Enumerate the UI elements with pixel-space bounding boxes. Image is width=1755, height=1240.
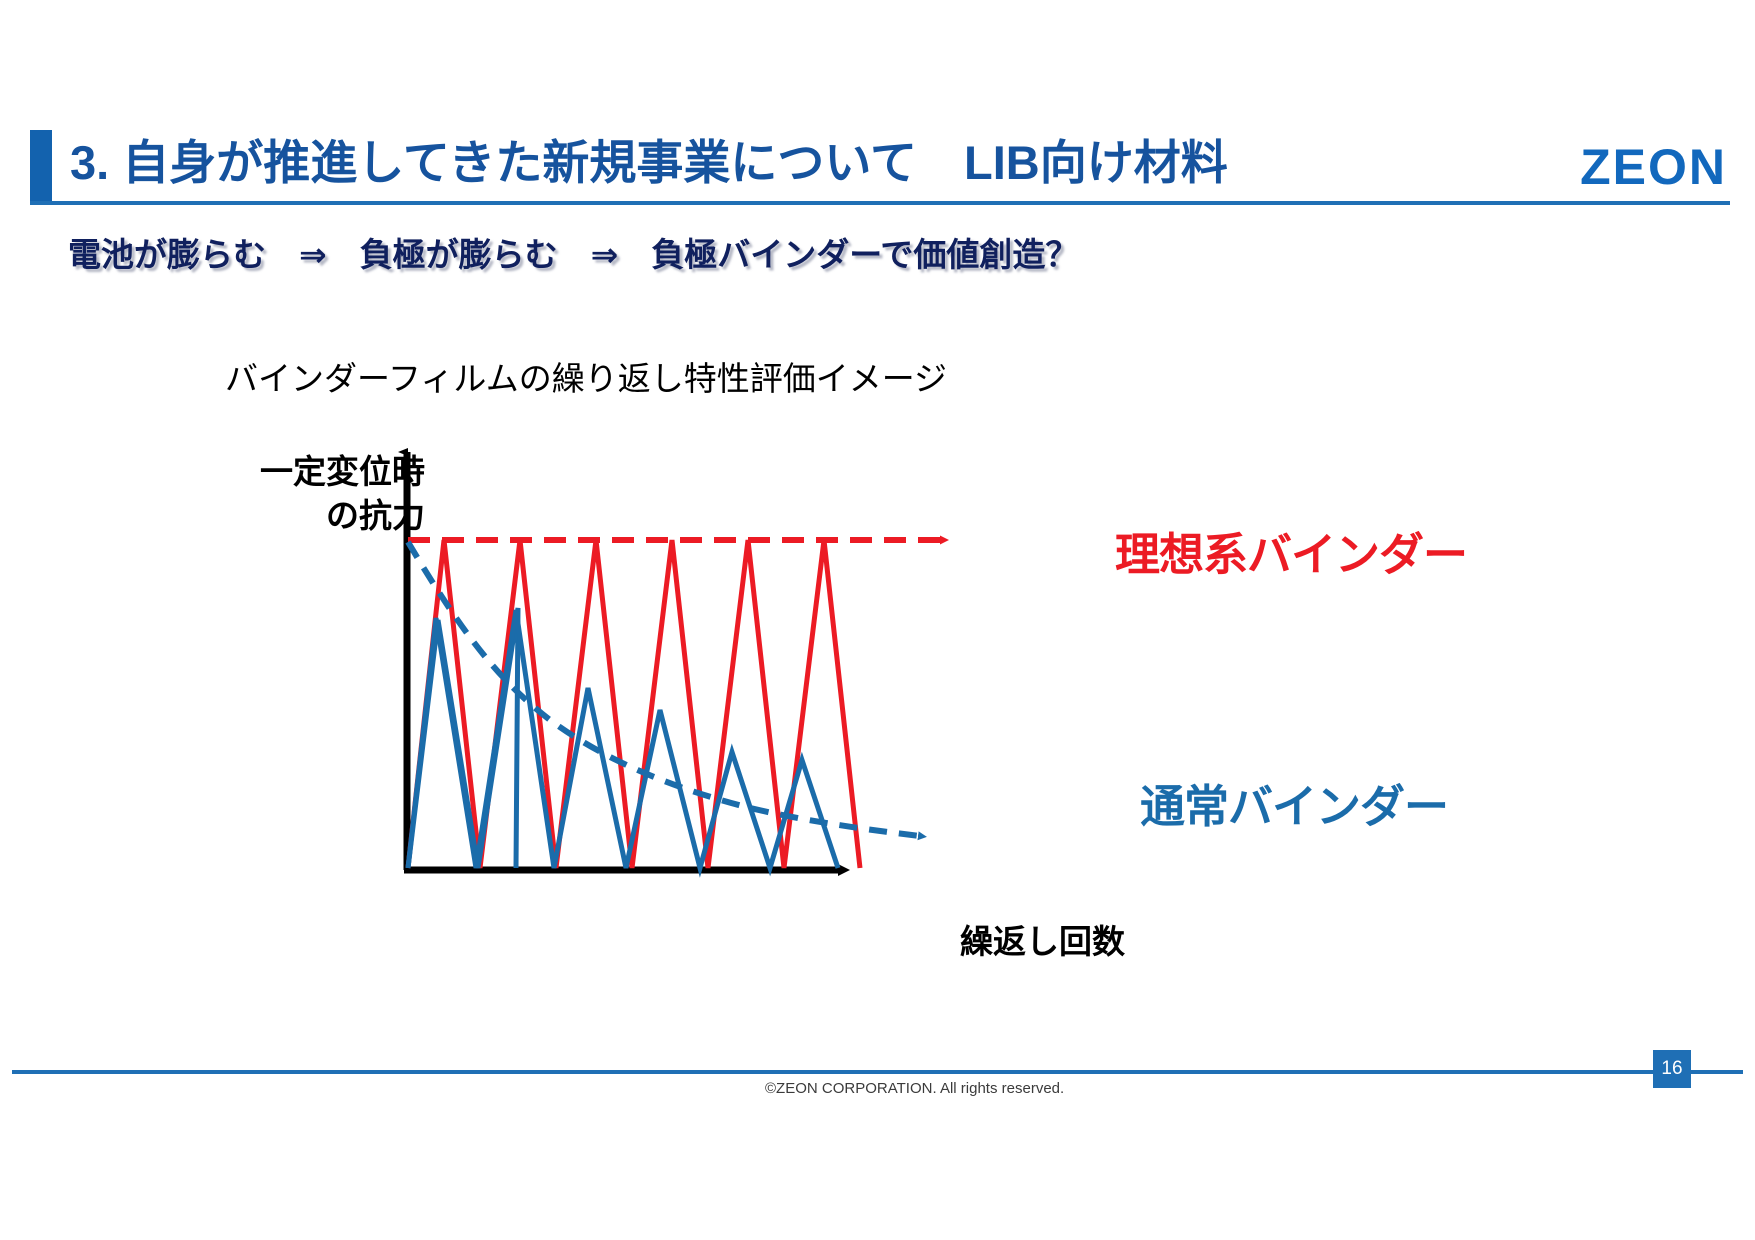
repeat-characteristics-chart [230, 430, 1060, 900]
legend-ideal-binder: 理想系バインダー [1115, 518, 1467, 583]
zeon-logo: ZEON [1580, 132, 1727, 202]
chart-svg [230, 430, 1060, 900]
slide-header: 3. 自身が推進してきた新規事業について LIB向け材料 ZEON [0, 130, 1755, 202]
copyright-text: ©ZEON CORPORATION. All rights reserved. [765, 1080, 1064, 1097]
header-divider [30, 201, 1730, 205]
subtitle-text: 電池が膨らむ ⇒ 負極が膨らむ ⇒ 負極バインダーで価値創造？ [68, 228, 1078, 276]
slide: 3. 自身が推進してきた新規事業について LIB向け材料 ZEON 電池が膨らむ… [0, 0, 1755, 1240]
title-accent-bar [30, 130, 52, 202]
page-title: 3. 自身が推進してきた新規事業について LIB向け材料 [70, 126, 1228, 200]
page-number: 16 [1653, 1050, 1691, 1088]
footer-divider [12, 1070, 1743, 1074]
legend-normal-binder: 通常バインダー [1140, 770, 1448, 835]
x-axis-label: 繰返し回数 [960, 915, 1125, 963]
chart-caption: バインダーフィルムの繰り返し特性評価イメージ [225, 352, 947, 400]
